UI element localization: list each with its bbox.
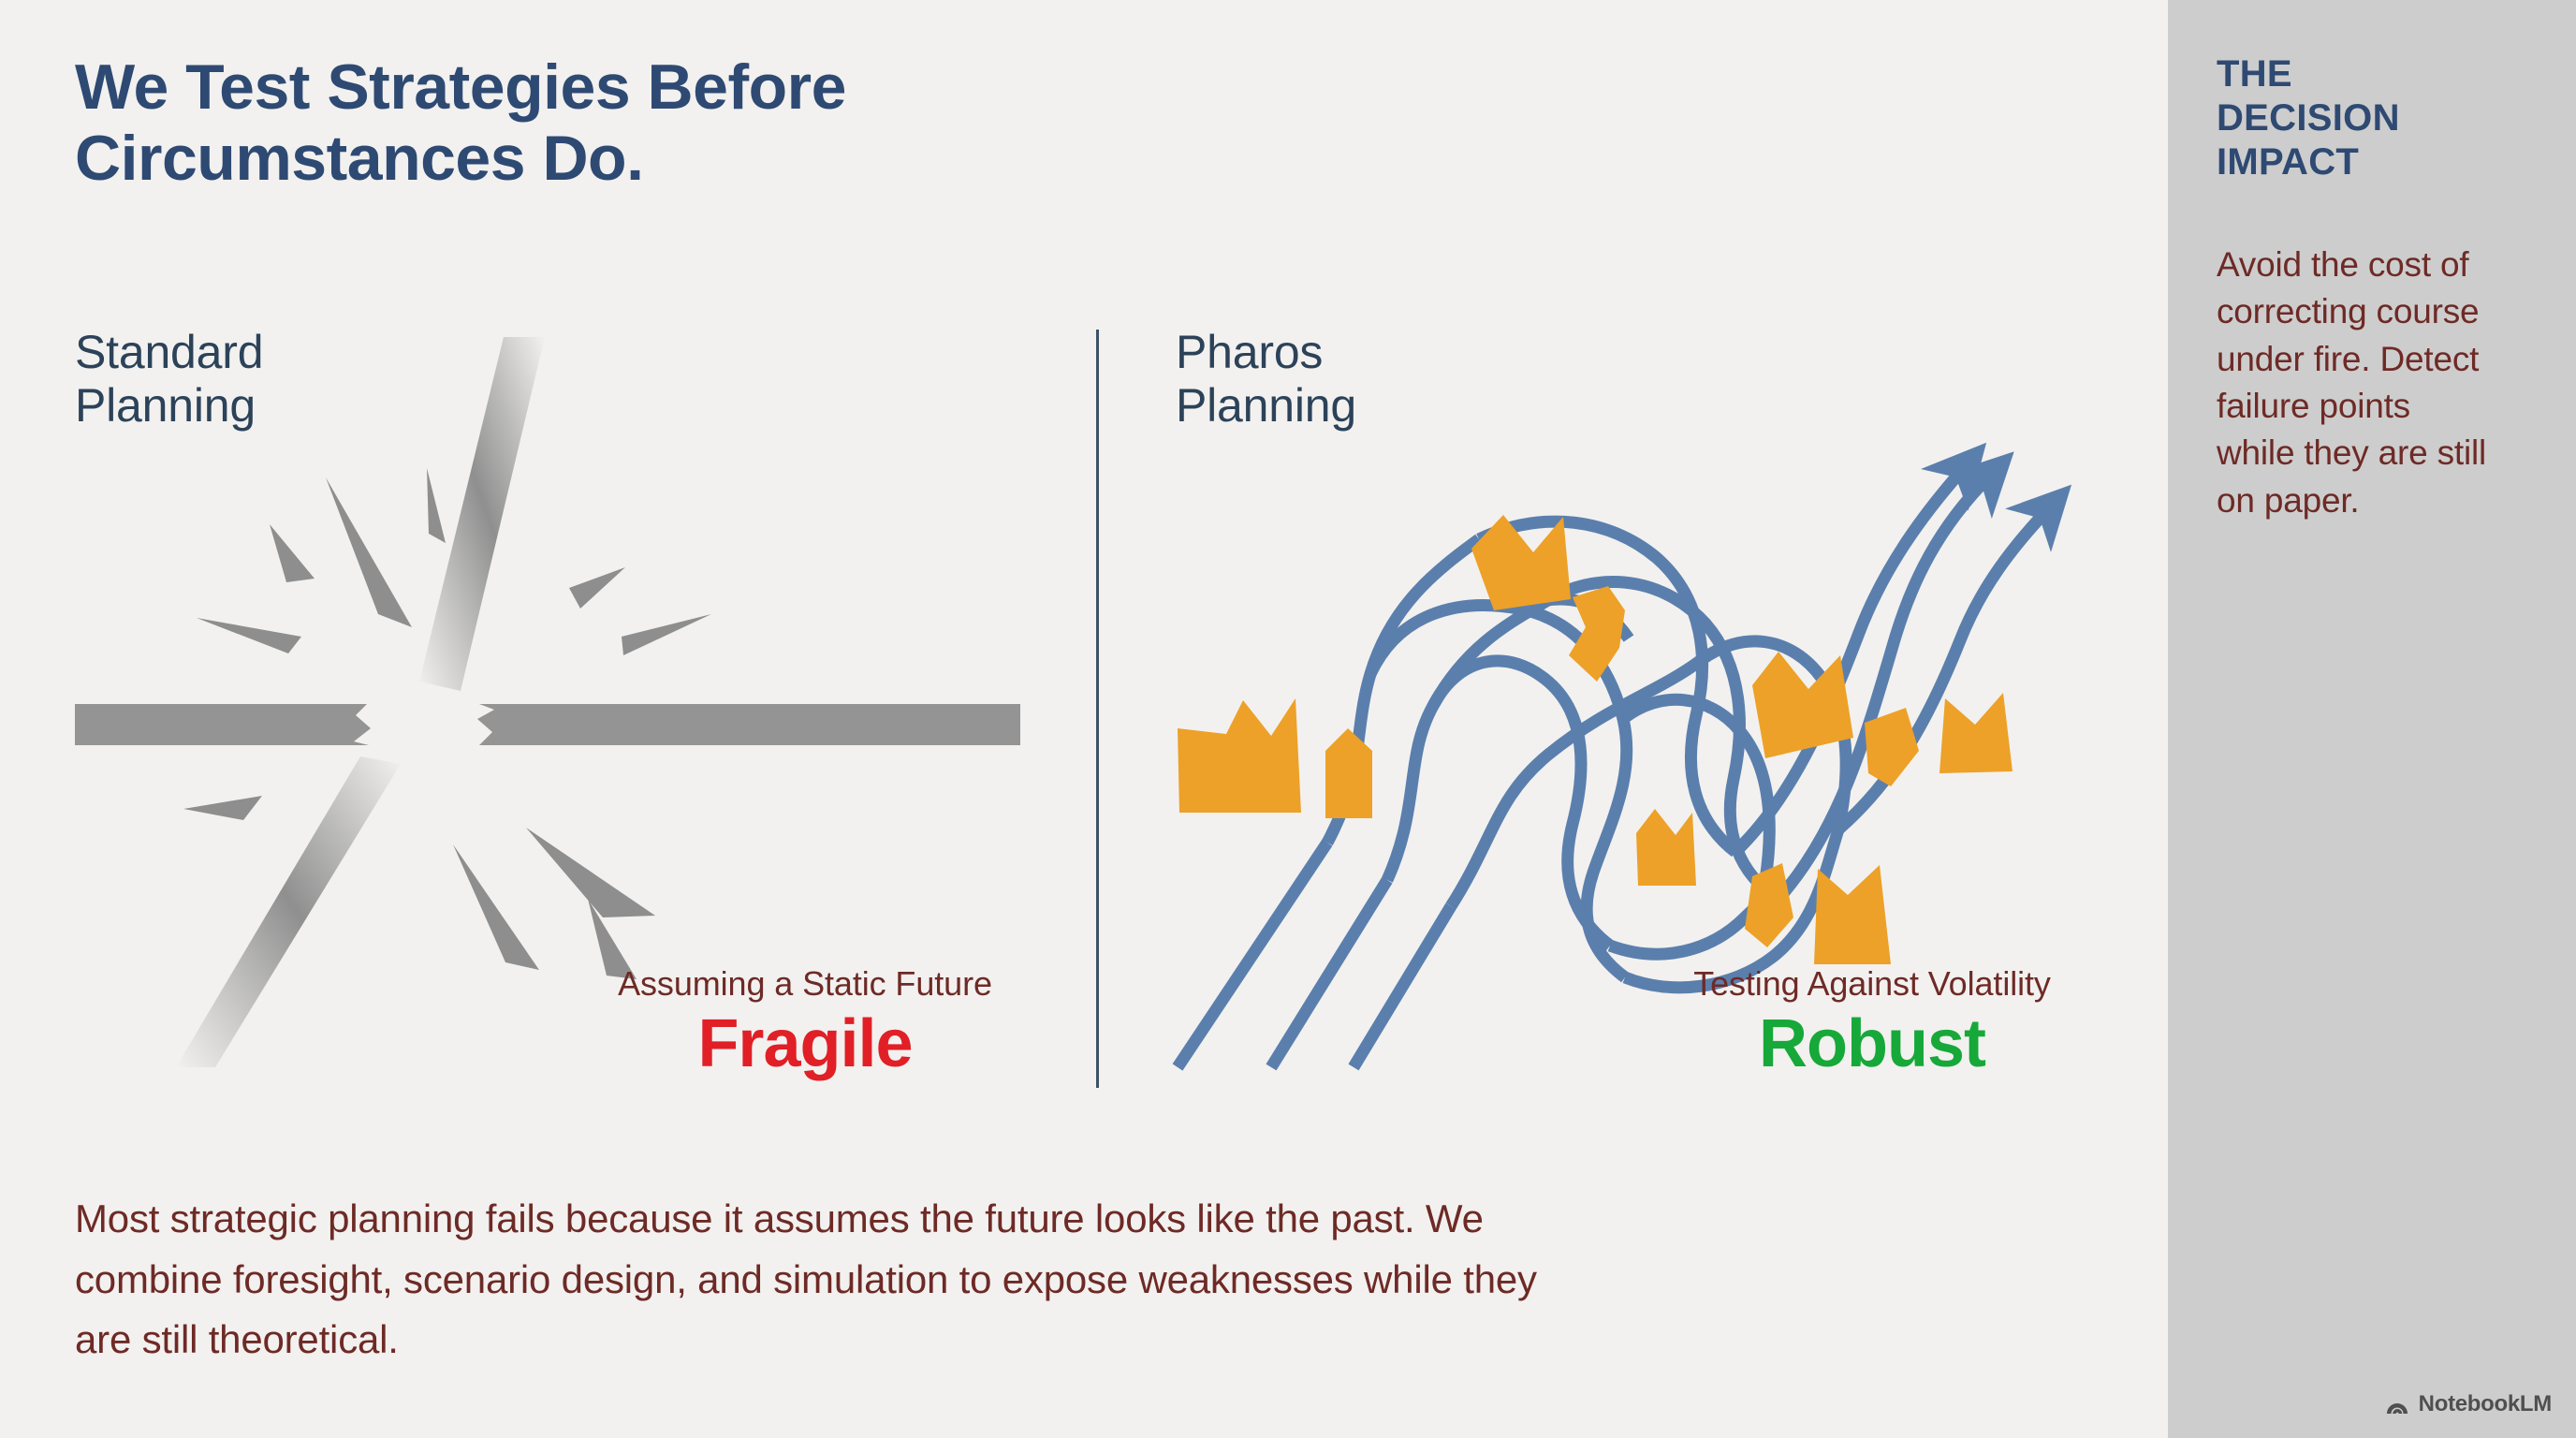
body-paragraph: Most strategic planning fails because it… <box>75 1189 1591 1371</box>
page-title-line-2: Circumstances Do. <box>75 123 1385 194</box>
sidebar-heading-line-1: THE <box>2217 53 2292 95</box>
main-content-region: We Test Strategies Before Circumstances … <box>0 0 2168 1438</box>
obstacle-10 <box>1814 865 1891 964</box>
sidebar-heading-line-2: DECISION <box>2217 96 2535 140</box>
sidebar-heading: THE DECISION IMPACT <box>2217 52 2535 185</box>
right-caption-subtitle: Testing Against Volatility <box>1535 964 2209 1004</box>
obstacle-7 <box>1939 693 2012 773</box>
right-verdict-block: Testing Against Volatility Robust <box>1535 964 2209 1081</box>
braided-paths-icon <box>1170 318 2125 1077</box>
path-arrow-3 <box>1838 509 2048 829</box>
left-verdict-block: Assuming a Static Future Fragile <box>468 964 1142 1081</box>
path-main-b <box>1387 595 1556 880</box>
left-caption-subtitle: Assuming a Static Future <box>468 964 1142 1004</box>
path-tail-3 <box>1354 906 1451 1067</box>
decision-impact-sidebar: THE DECISION IMPACT Avoid the cost of co… <box>2168 0 2576 1438</box>
collision-shatter-icon <box>56 337 1058 1067</box>
left-verdict-label: Fragile <box>468 1007 1142 1081</box>
path-tail-1 <box>1178 843 1327 1067</box>
page-title: We Test Strategies Before Circumstances … <box>75 51 1385 194</box>
obstacle-8 <box>1636 809 1696 886</box>
obstacle-5 <box>1752 652 1853 758</box>
obstacle-3 <box>1178 698 1301 813</box>
diagonal-bar <box>176 337 545 1067</box>
page-title-line-1: We Test Strategies Before <box>75 51 846 123</box>
notebooklm-watermark-label: NotebookLM <box>2419 1391 2552 1417</box>
right-verdict-label: Robust <box>1535 1007 2209 1081</box>
notebooklm-arc-icon <box>2384 1392 2410 1416</box>
obstacle-4 <box>1325 728 1372 818</box>
slide-canvas: We Test Strategies Before Circumstances … <box>0 0 2576 1438</box>
sidebar-heading-line-3: IMPACT <box>2217 140 2535 184</box>
horizontal-bar <box>75 704 1020 745</box>
notebooklm-watermark: NotebookLM <box>2384 1391 2552 1417</box>
sidebar-body-text: Avoid the cost of correcting course unde… <box>2217 242 2497 524</box>
